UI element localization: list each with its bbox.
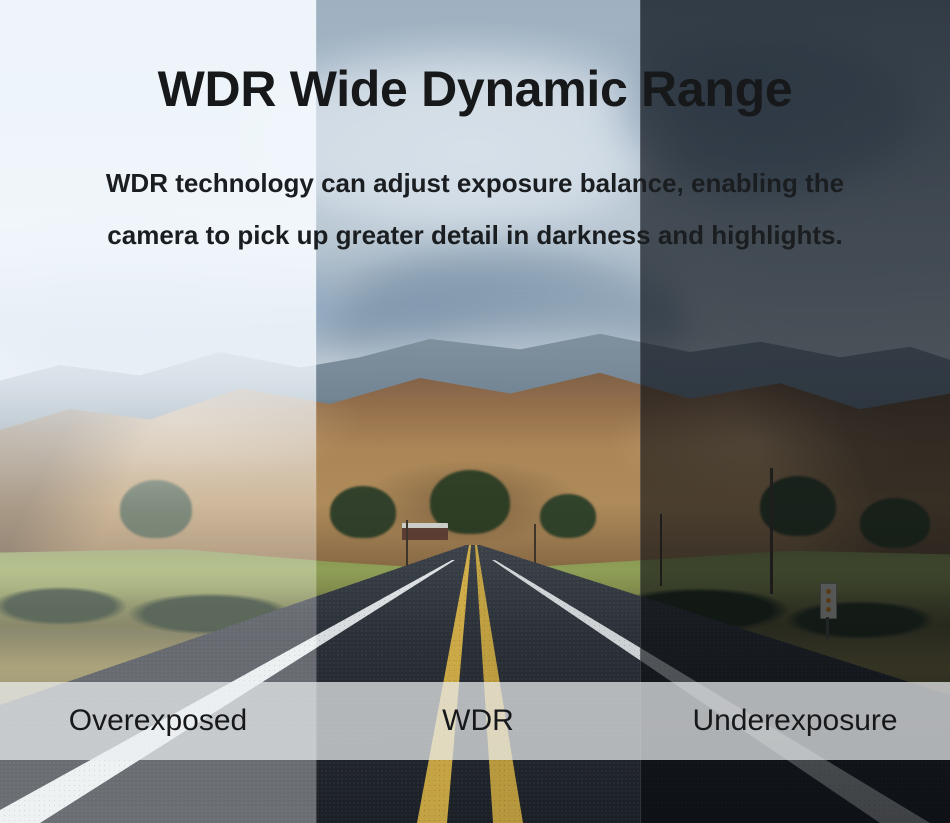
barn-building [402, 523, 448, 540]
wdr-banner: WDR Wide Dynamic Range WDR technology ca… [0, 0, 950, 823]
label-overexposed: Overexposed [0, 682, 316, 760]
roadside-reflector-marker [820, 583, 837, 619]
reflector-dot [826, 607, 831, 612]
reflector-dot [826, 598, 831, 603]
subtitle-line-1: WDR technology can adjust exposure balan… [0, 168, 950, 199]
label-band: Overexposed WDR Underexposure [0, 682, 950, 760]
roadside-tree [120, 480, 192, 538]
reflector-dot [826, 589, 831, 594]
utility-pole [660, 514, 662, 586]
marker-post [826, 617, 829, 639]
label-wdr: WDR [316, 682, 640, 760]
roadside-tree [540, 494, 596, 538]
page-title: WDR Wide Dynamic Range [0, 62, 950, 116]
subtitle-line-2: camera to pick up greater detail in dark… [0, 220, 950, 251]
roadside-tree [330, 486, 396, 538]
roadside-tree [860, 498, 930, 548]
label-underexposure: Underexposure [640, 682, 950, 760]
utility-pole [770, 468, 773, 594]
